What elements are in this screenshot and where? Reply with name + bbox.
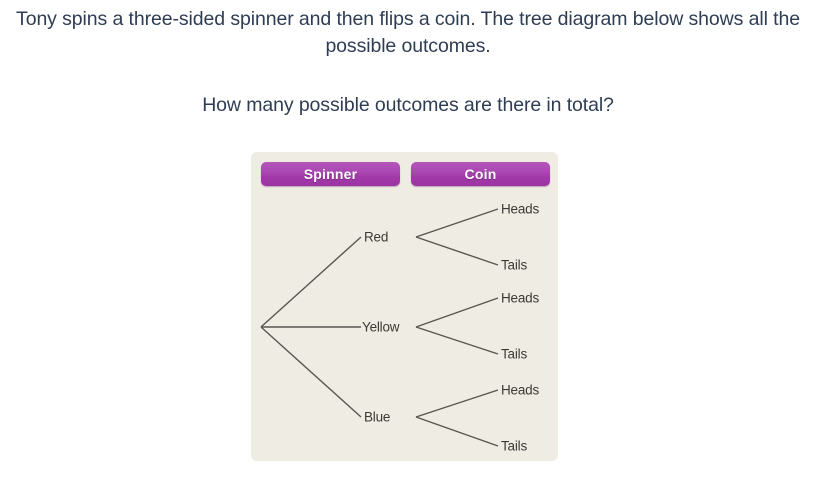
node-label-spinner-red: Red [364, 230, 388, 245]
branch-root-to-red [261, 237, 361, 327]
branch-blue-to-heads [416, 390, 498, 417]
branch-red-to-heads [416, 209, 498, 237]
node-label-spinner-blue: Blue [364, 410, 390, 425]
question-prompt-text: How many possible outcomes are there in … [6, 92, 810, 119]
node-label-coin-heads-yellow: Heads [501, 291, 539, 306]
node-label-coin-tails-blue: Tails [501, 439, 527, 454]
tree-branches [251, 152, 558, 461]
node-label-coin-tails-yellow: Tails [501, 347, 527, 362]
branch-yellow-to-tails [416, 327, 498, 354]
node-label-spinner-yellow: Yellow [362, 320, 399, 335]
branch-blue-to-tails [416, 417, 498, 446]
branch-red-to-tails [416, 237, 498, 265]
tree-diagram-panel: Spinner Coin Red Yellow Blue Heads Tails… [251, 152, 558, 461]
branch-root-to-blue [261, 327, 361, 417]
node-label-coin-heads-blue: Heads [501, 383, 539, 398]
question-intro-text: Tony spins a three-sided spinner and the… [6, 6, 810, 60]
node-label-coin-tails-red: Tails [501, 258, 527, 273]
node-label-coin-heads-red: Heads [501, 202, 539, 217]
branch-yellow-to-heads [416, 298, 498, 327]
